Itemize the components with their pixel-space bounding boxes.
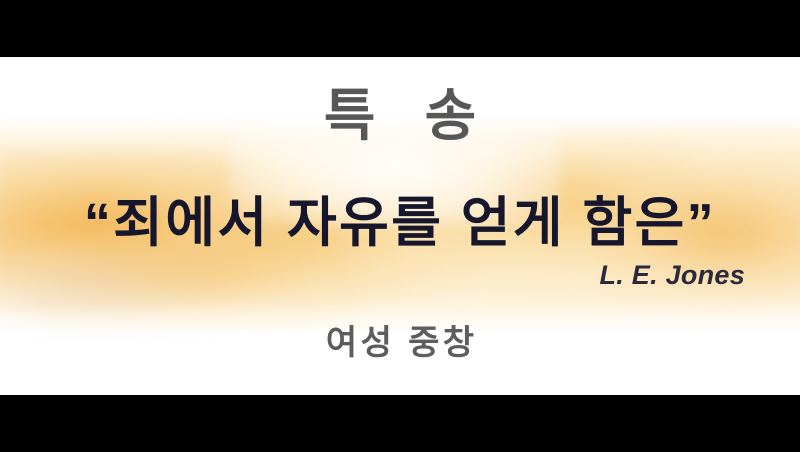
- hymn-author-credit: L. E. Jones: [599, 260, 745, 291]
- video-slide-frame: 특 송 “죄에서 자유를 얻게 함은” L. E. Jones 여성 중창: [0, 0, 800, 452]
- slide-text-layer: 특 송 “죄에서 자유를 얻게 함은” L. E. Jones 여성 중창: [0, 57, 800, 395]
- slide-heading: 특 송: [0, 87, 800, 146]
- letterbox-bar-top: [0, 0, 800, 57]
- hymn-title: “죄에서 자유를 얻게 함은”: [0, 193, 800, 253]
- slide-canvas: 특 송 “죄에서 자유를 얻게 함은” L. E. Jones 여성 중창: [0, 57, 800, 395]
- letterbox-bar-bottom: [0, 395, 800, 452]
- performer-label: 여성 중창: [0, 315, 800, 364]
